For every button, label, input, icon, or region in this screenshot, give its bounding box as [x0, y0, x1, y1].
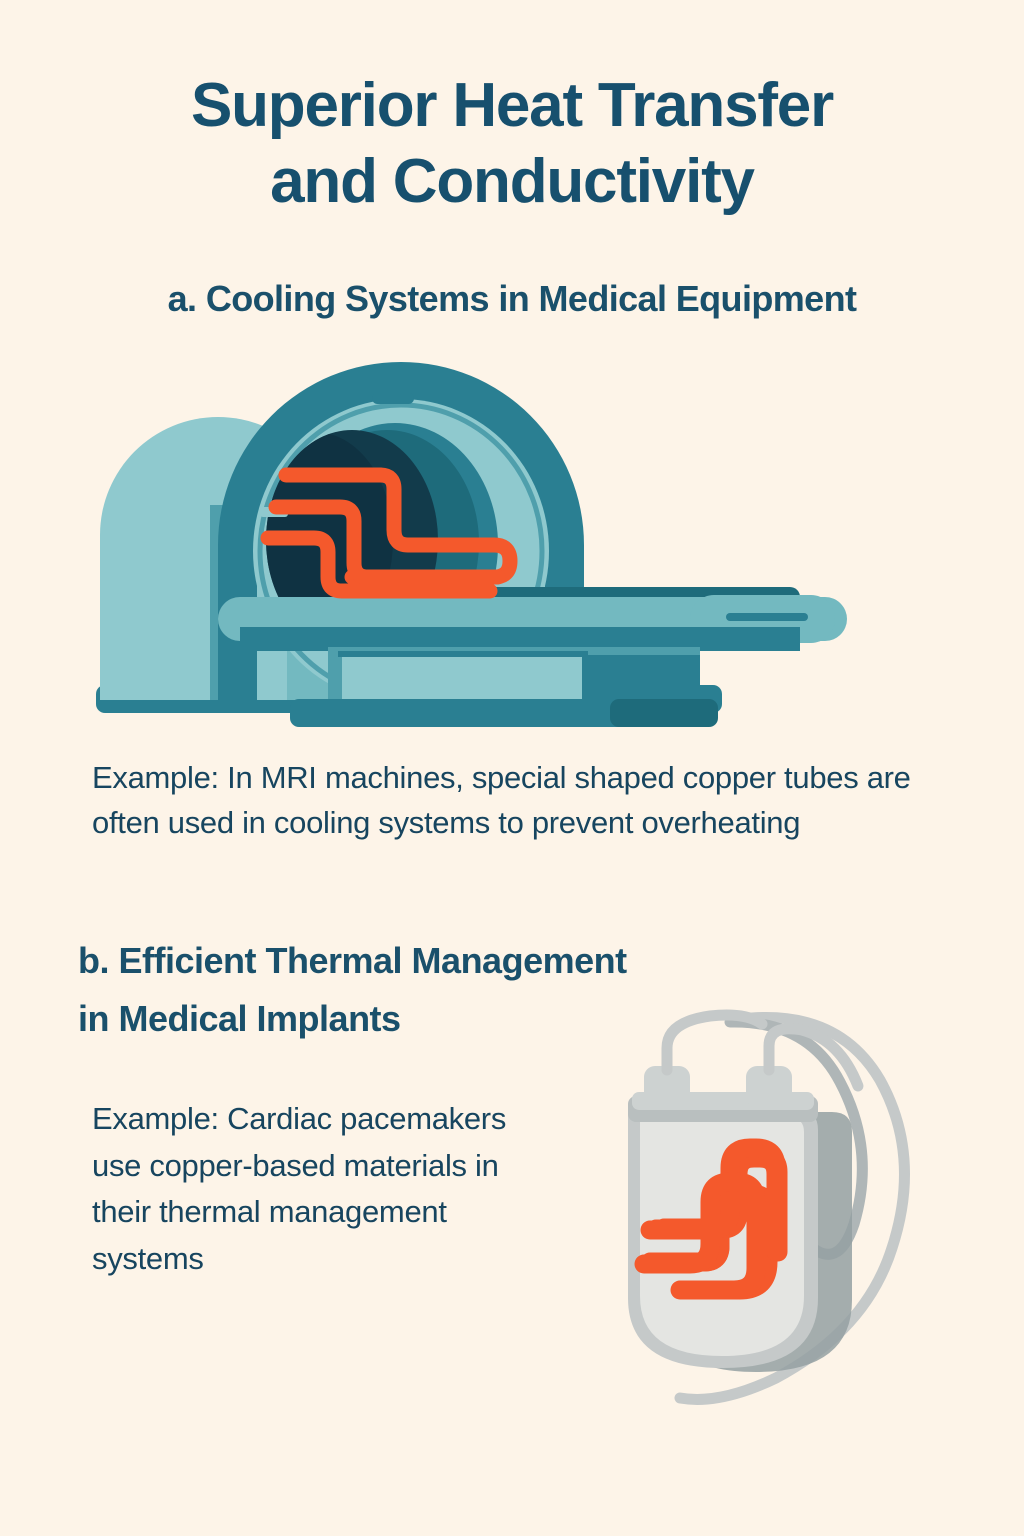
mri-status-light	[372, 393, 414, 404]
mri-scanner-illustration	[90, 355, 850, 730]
cardiac-pacemaker-illustration	[540, 1000, 960, 1420]
mri-table-headrest-groove	[726, 613, 808, 621]
section-a-heading: a. Cooling Systems in Medical Equipment	[0, 278, 1024, 320]
page-title-line-2: and Conductivity	[70, 144, 954, 220]
section-b-body-text: Example: Cardiac pacemakers use copper-b…	[92, 1096, 522, 1282]
section-b-heading-line-1: b. Efficient Thermal Management	[78, 932, 838, 990]
page-title-line-1: Superior Heat Transfer	[70, 68, 954, 144]
infographic-page: Superior Heat Transfer and Conductivity …	[0, 0, 1024, 1536]
section-a-body-text: Example: In MRI machines, special shaped…	[92, 755, 982, 846]
page-title: Superior Heat Transfer and Conductivity	[0, 68, 1024, 221]
